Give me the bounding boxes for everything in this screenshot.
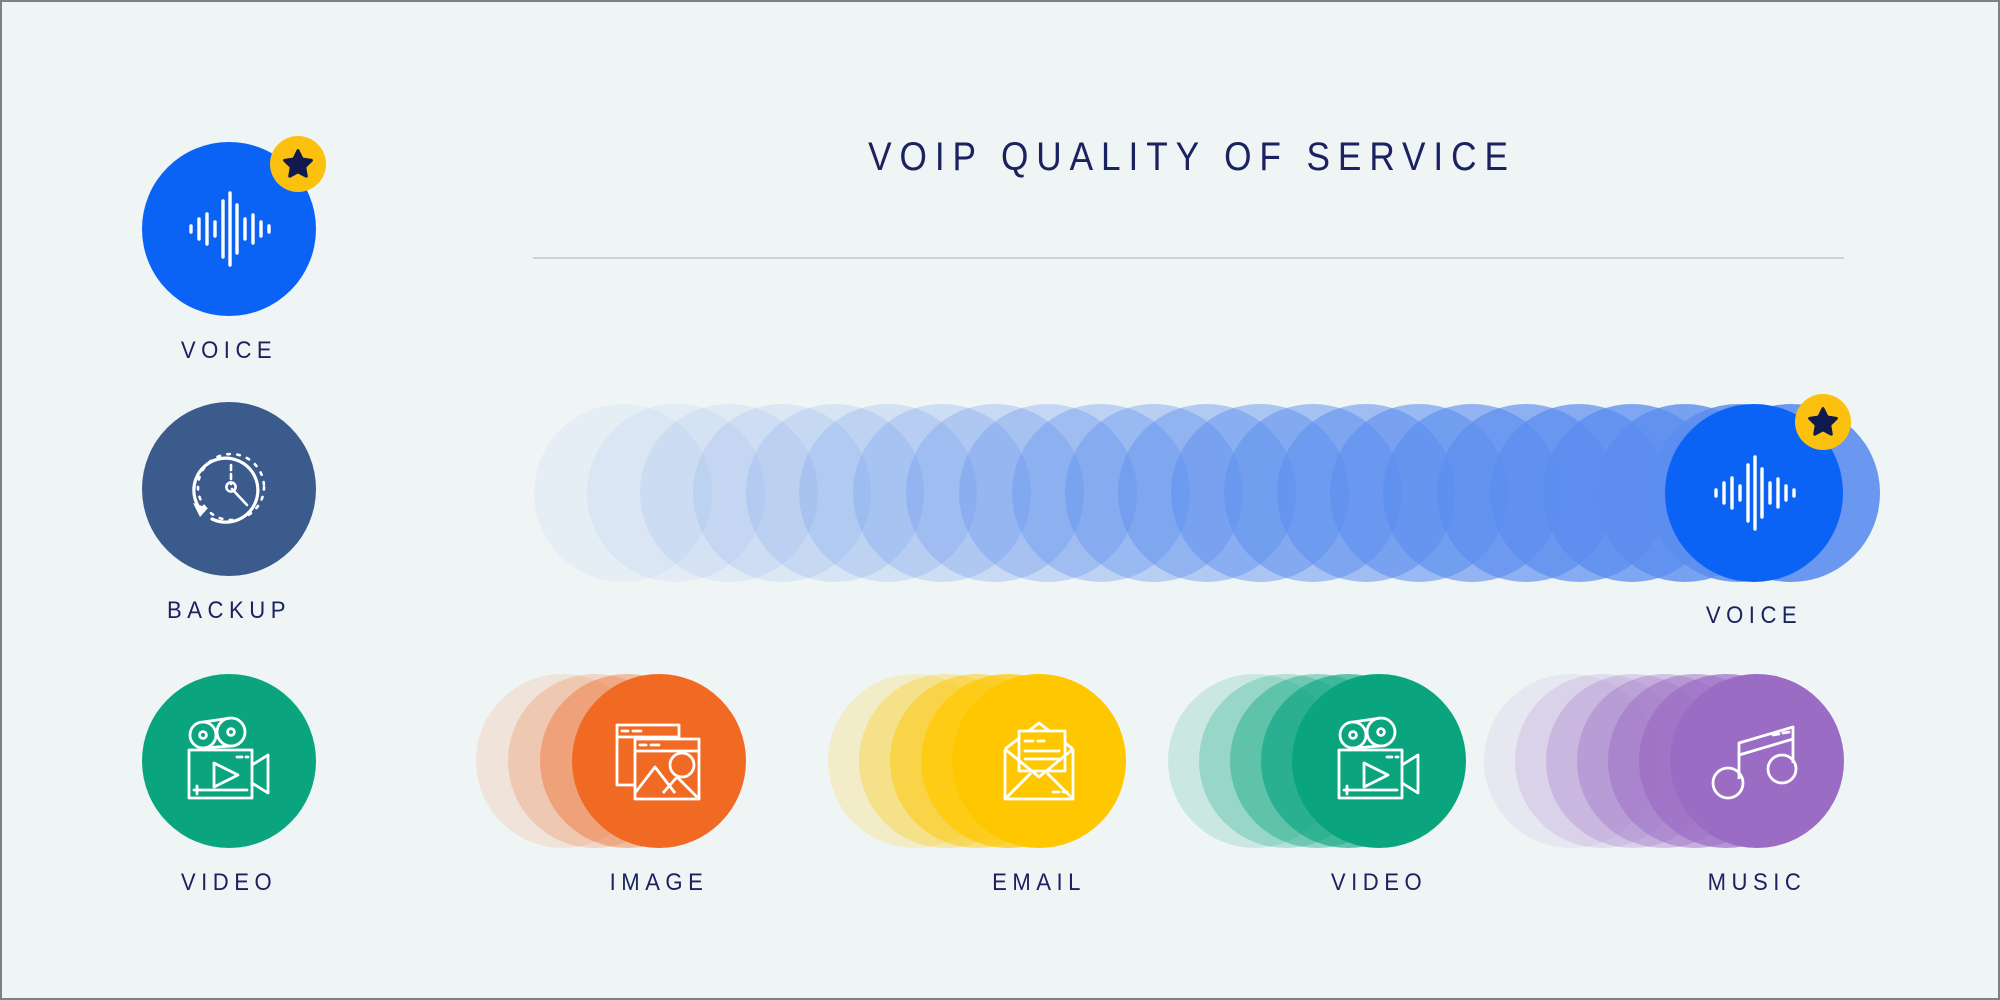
- star-badge: [1795, 394, 1851, 450]
- trail-circle: [1118, 404, 1296, 582]
- legend-label-voice: VOICE: [119, 337, 340, 365]
- main-bar-label: VOICE: [1644, 602, 1865, 630]
- trail-circle: [906, 404, 1084, 582]
- star-badge: [270, 136, 326, 192]
- trail-circle: [1012, 404, 1190, 582]
- star-icon: [281, 147, 315, 181]
- trail-circle: [693, 404, 871, 582]
- legend-label-backup: BACKUP: [119, 597, 340, 625]
- backup-bubble: [142, 402, 316, 576]
- video-bubble-2: [1292, 674, 1466, 848]
- video-bubble: [142, 674, 316, 848]
- video-camera-icon: [1292, 674, 1466, 848]
- infographic-canvas: VOIP QUALITY OF SERVICE: [0, 0, 2000, 1000]
- email-bubble: [952, 674, 1126, 848]
- trail-circle: [1224, 404, 1402, 582]
- trail-circle: [1437, 404, 1615, 582]
- bottom-label-video: VIDEO: [1269, 869, 1490, 897]
- bottom-label-music: MUSIC: [1647, 869, 1868, 897]
- image-photos-icon: [572, 674, 746, 848]
- legend-label-video: VIDEO: [119, 869, 340, 897]
- image-bubble: [572, 674, 746, 848]
- trail-circle: [799, 404, 977, 582]
- trail-circle: [1277, 404, 1455, 582]
- title-divider: [533, 257, 1844, 259]
- trail-circle: [1065, 404, 1243, 582]
- trail-circle: [746, 404, 924, 582]
- bottom-label-email: EMAIL: [929, 869, 1150, 897]
- video-camera-icon: [142, 674, 316, 848]
- trail-circle: [959, 404, 1137, 582]
- trail-circle: [587, 404, 765, 582]
- backup-clock-icon: [142, 402, 316, 576]
- bottom-label-image: IMAGE: [549, 869, 770, 897]
- music-note-icon: [1670, 674, 1844, 848]
- trail-circle: [1490, 404, 1668, 582]
- trail-circle: [1171, 404, 1349, 582]
- page-title: VOIP QUALITY OF SERVICE: [620, 135, 1764, 180]
- trail-circle: [853, 404, 1031, 582]
- music-bubble: [1670, 674, 1844, 848]
- trail-circle: [1383, 404, 1561, 582]
- star-icon: [1806, 405, 1840, 439]
- email-envelope-icon: [952, 674, 1126, 848]
- trail-circle: [640, 404, 818, 582]
- trail-circle: [1330, 404, 1508, 582]
- trail-circle: [534, 404, 712, 582]
